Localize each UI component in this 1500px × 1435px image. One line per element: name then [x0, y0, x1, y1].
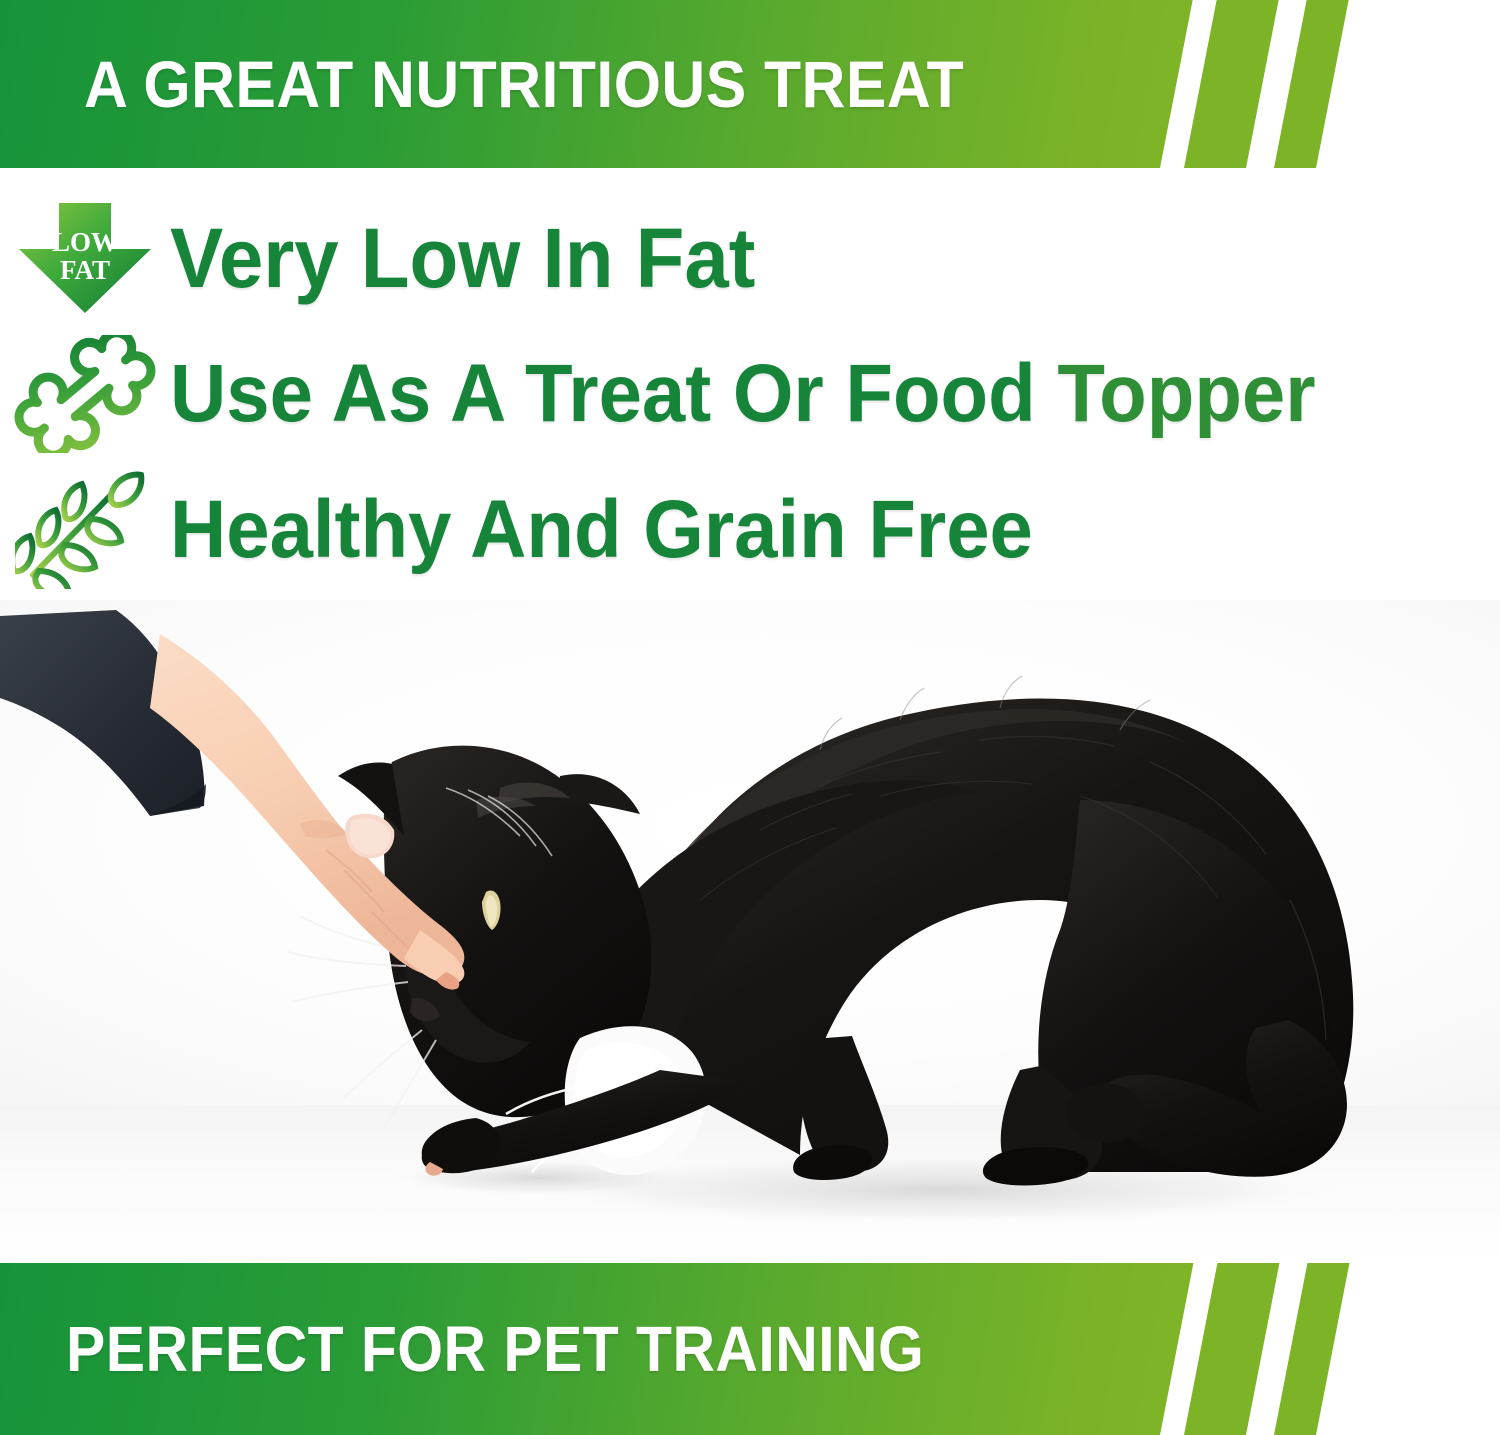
feature-label-low-fat: Very Low In Fat: [170, 216, 755, 300]
feature-label-grain-free: Healthy And Grain Free: [170, 489, 1033, 571]
low-fat-icon-text-line2: FAT: [60, 255, 110, 285]
top-banner-title: A GREAT NUTRITIOUS TREAT: [84, 0, 964, 168]
product-feature-image: A GREAT NUTRITIOUS TREAT LOW FAT: [0, 0, 1500, 1435]
low-fat-down-arrow-icon: LOW FAT: [0, 193, 170, 323]
bottom-banner-title: PERFECT FOR PET TRAINING: [66, 1263, 924, 1435]
feature-item-grain-free: Healthy And Grain Free: [0, 462, 1500, 598]
feature-item-treat-topper: Use As A Treat Or Food Topper: [0, 326, 1500, 462]
bottom-banner-stripe-2: [1274, 1263, 1349, 1435]
product-photo: [0, 600, 1500, 1265]
bottom-banner-stripe-1: [1184, 1263, 1279, 1435]
feature-label-treat-topper-accent: Topper: [1057, 348, 1315, 439]
bone-icon: [0, 329, 170, 459]
feature-label-treat-topper: Use As A Treat Or Food Topper: [170, 353, 1316, 435]
top-banner: A GREAT NUTRITIOUS TREAT: [0, 0, 1500, 168]
cat-and-hand-illustration: [0, 600, 1500, 1265]
top-banner-stripe-2: [1274, 0, 1349, 168]
feature-item-low-fat: LOW FAT Very Low In Fat: [0, 190, 1500, 326]
feature-label-treat-topper-main: Use As A Treat Or Food: [170, 348, 1057, 439]
leaf-branch-icon: [0, 465, 170, 595]
bottom-banner: PERFECT FOR PET TRAINING: [0, 1263, 1500, 1435]
low-fat-icon-text-line1: LOW: [52, 227, 118, 257]
feature-list: LOW FAT Very Low In Fat: [0, 190, 1500, 598]
top-banner-stripe-1: [1184, 0, 1279, 168]
